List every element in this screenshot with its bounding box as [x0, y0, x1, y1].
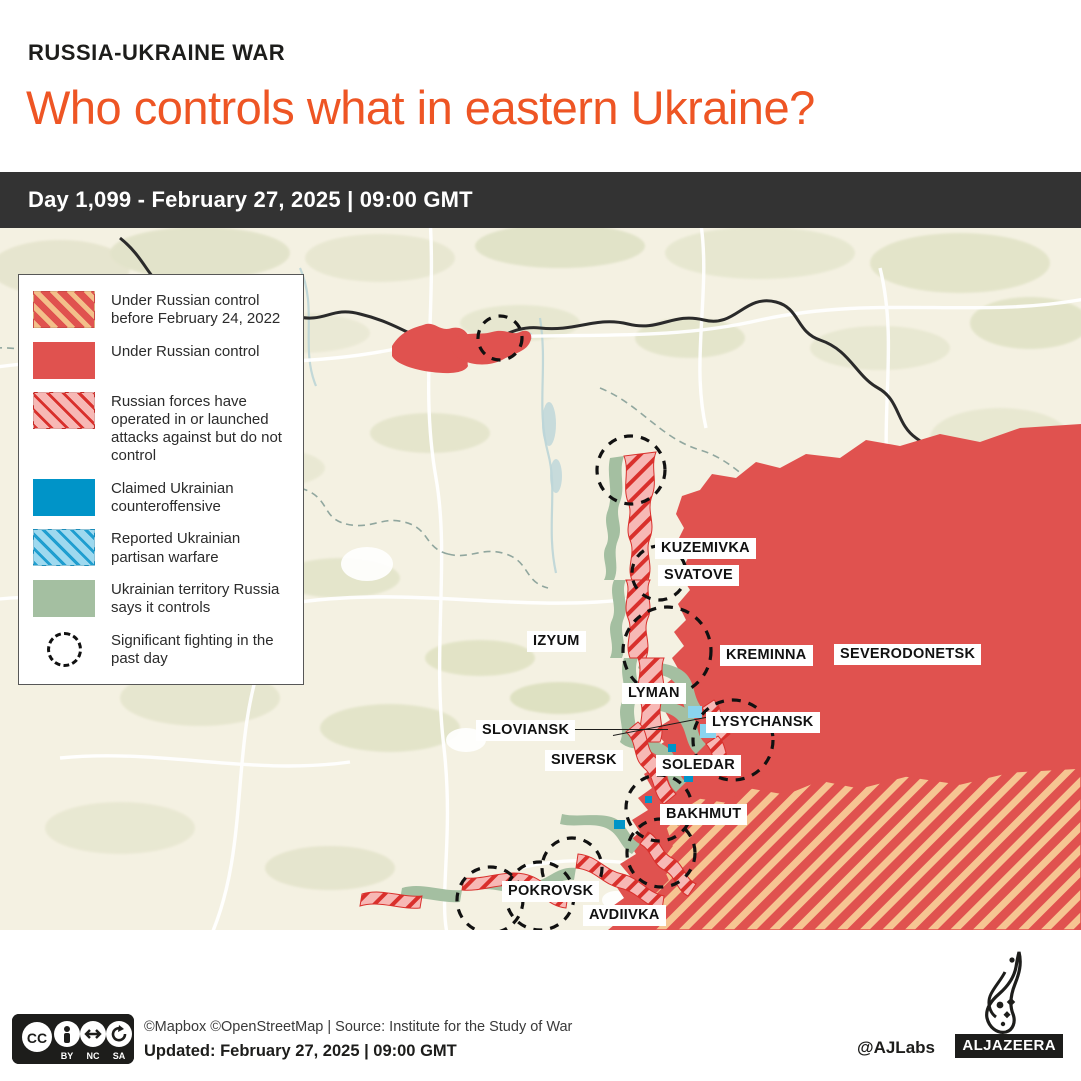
- svg-text:BY: BY: [61, 1051, 74, 1061]
- aljazeera-logo-icon: [975, 950, 1047, 1034]
- svg-text:CC: CC: [27, 1030, 47, 1046]
- legend-swatch-partisan: [33, 529, 95, 566]
- legend-swatch-control: [33, 342, 95, 379]
- legend-swatch-prewar: [33, 291, 95, 328]
- svg-text:NC: NC: [87, 1051, 100, 1061]
- city-label-bakhmut: BAKHMUT: [660, 804, 747, 825]
- legend-item-control: Under Russian control: [33, 342, 291, 379]
- leader-line-sloviansk: [570, 729, 668, 730]
- city-label-sloviansk: SLOVIANSK: [476, 720, 575, 741]
- kicker-label: RUSSIA-UKRAINE WAR: [28, 40, 285, 66]
- city-label-svatove: SVATOVE: [658, 565, 739, 586]
- legend-swatch-fighting-circle-icon: [33, 631, 95, 668]
- city-label-avdiivka: AVDIIVKA: [583, 905, 666, 926]
- legend-label-counteroffensive: Claimed Ukrainian counteroffensive: [111, 479, 291, 517]
- legend-swatch-claimed: [33, 580, 95, 617]
- legend-label-prewar: Under Russian control before February 24…: [111, 291, 291, 329]
- day-bar-text: Day 1,099 - February 27, 2025 | 09:00 GM…: [28, 187, 473, 213]
- city-label-severodonetsk: SEVERODONETSK: [834, 644, 981, 665]
- day-bar: Day 1,099 - February 27, 2025 | 09:00 GM…: [0, 172, 1081, 228]
- legend-item-prewar: Under Russian control before February 24…: [33, 291, 291, 329]
- source-attribution: ©Mapbox ©OpenStreetMap | Source: Institu…: [144, 1019, 572, 1035]
- updated-timestamp: Updated: February 27, 2025 | 09:00 GMT: [144, 1042, 457, 1061]
- aljazeera-wordmark: ALJAZEERA: [955, 1034, 1063, 1058]
- legend-item-ops: Russian forces have operated in or launc…: [33, 392, 291, 466]
- city-label-siversk: SIVERSK: [545, 750, 623, 771]
- city-label-kuzemivka: KUZEMIVKA: [655, 538, 756, 559]
- page-title: Who controls what in eastern Ukraine?: [26, 80, 815, 135]
- legend-swatch-ops: [33, 392, 95, 429]
- legend-label-control: Under Russian control: [111, 342, 259, 361]
- legend-item-counteroffensive: Claimed Ukrainian counteroffensive: [33, 479, 291, 517]
- legend-label-partisan: Reported Ukrainian partisan warfare: [111, 529, 291, 567]
- legend-item-partisan: Reported Ukrainian partisan warfare: [33, 529, 291, 567]
- city-label-izyum: IZYUM: [527, 631, 586, 652]
- city-label-soledar: SOLEDAR: [656, 755, 741, 776]
- city-label-lyman: LYMAN: [622, 683, 686, 704]
- legend-label-fighting: Significant fighting in the past day: [111, 631, 291, 669]
- city-label-kreminna: KREMINNA: [720, 645, 813, 666]
- svg-text:SA: SA: [113, 1051, 126, 1061]
- legend-label-ops: Russian forces have operated in or launc…: [111, 392, 291, 466]
- legend-item-claimed: Ukrainian territory Russia says it contr…: [33, 580, 291, 618]
- creative-commons-icon: CC BY NC SA: [12, 1014, 134, 1064]
- legend-label-claimed: Ukrainian territory Russia says it contr…: [111, 580, 291, 618]
- infographic-page: RUSSIA-UKRAINE WAR Who controls what in …: [0, 0, 1081, 1081]
- ajlabs-handle: @AJLabs: [857, 1038, 935, 1058]
- city-label-lysychansk: LYSYCHANSK: [706, 712, 820, 733]
- legend-swatch-counteroffensive: [33, 479, 95, 516]
- map-legend: Under Russian control before February 24…: [18, 274, 304, 685]
- legend-item-fighting: Significant fighting in the past day: [33, 631, 291, 669]
- city-label-pokrovsk: POKROVSK: [502, 881, 599, 902]
